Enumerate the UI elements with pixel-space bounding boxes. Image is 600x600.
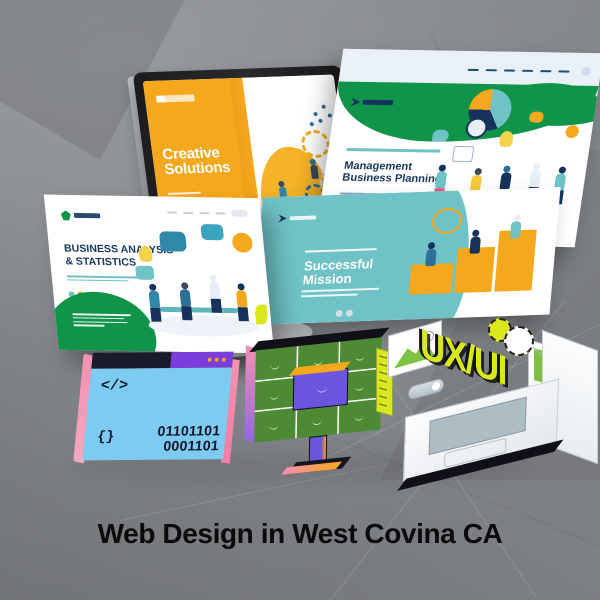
business-analysis-headline-line2: & STATISTICS [65,255,137,268]
management-headline-line1: Management [343,160,413,173]
speech-bubble-icon [200,224,224,240]
drawer-handle[interactable] [312,420,321,426]
code-tag-icon: </> [100,378,129,395]
drawer-handle[interactable] [269,425,278,431]
business-analysis-card[interactable]: BUSINESS ANALYSIS & STATISTICS [44,194,274,353]
brand-logo-mark-icon [156,94,195,102]
code-window-titlebar[interactable] [91,352,233,369]
code-window-window-controls[interactable] [207,357,225,361]
binary-line-1: 01101101 [157,423,221,439]
management-card-logo [350,98,394,108]
business-analysis-body-text [67,275,141,283]
clock-icon [465,117,489,138]
meeting-table [160,307,238,313]
flag-hoop-icon [431,207,463,234]
document-icon [452,146,475,162]
poster-canvas: Creative Solutions [0,0,600,600]
green-filing-cabinet[interactable] [254,337,382,442]
mission-card-illustration [401,197,554,314]
ux-ui-laptop[interactable]: UX/UI [392,322,582,484]
gear-icon [504,326,534,356]
step-block [454,246,495,292]
person-figure [425,242,437,266]
screen-headline: Creative Solutions [161,145,231,178]
person-figure [235,283,249,321]
brand-arrow-icon [278,214,287,222]
plant-icon [255,304,269,324]
page-title: Web Design in West Covina CA [0,518,600,550]
step-block [408,264,453,295]
gear-icon [232,232,254,252]
brand-wordmark [74,213,101,218]
person-figure [179,282,193,320]
person-figure [469,229,481,253]
business-analysis-logo [60,210,100,221]
dot-chart-icon [306,100,334,136]
brand-wordmark [363,100,394,105]
person-figure [510,214,522,238]
lightbulb-icon [138,246,153,262]
business-analysis-nav-button[interactable] [231,210,248,217]
drawer-handle[interactable] [354,416,363,422]
person-figure [148,284,162,322]
speech-bubble-icon [432,129,450,141]
mission-card-pagination-dots[interactable] [335,309,353,317]
mouse-icon[interactable] [408,377,444,401]
person-figure [310,159,320,179]
cabinet-open-drawer[interactable] [292,368,348,411]
code-brace-icon: {} [97,430,115,446]
brand-wordmark [289,215,316,220]
business-analysis-illustration [128,218,274,348]
speech-bubble-icon [158,231,186,251]
code-binary-text: 01101101 0001101 [155,424,221,455]
open-drawer-handle[interactable] [317,387,327,393]
mission-headline-line2: Mission [302,270,352,287]
screen-headline-line2: Solutions [163,160,231,177]
business-analysis-nav[interactable] [167,209,248,217]
mission-card-headline: Successful Mission [302,257,374,287]
lightbulb-icon [499,130,514,146]
code-window[interactable]: </> {} 01101101 0001101 [82,352,233,461]
mission-card-logo [278,213,316,222]
play-bubble-icon [135,266,154,280]
code-window-body: </> {} 01101101 0001101 [82,368,232,461]
binary-line-2: 0001101 [163,438,220,454]
drawer-handle[interactable] [271,364,280,370]
coin-icon [565,125,580,138]
drawer-handle[interactable] [355,355,364,361]
drawer-handle[interactable] [354,385,363,391]
mission-card[interactable]: Successful Mission [251,187,560,325]
business-analysis-footer-text [72,313,132,329]
step-block [494,229,536,291]
brand-arrow-icon [350,98,360,107]
brand-pentagon-icon [60,210,71,220]
speech-bubble-icon [529,112,545,123]
drawer-handle[interactable] [270,394,279,400]
